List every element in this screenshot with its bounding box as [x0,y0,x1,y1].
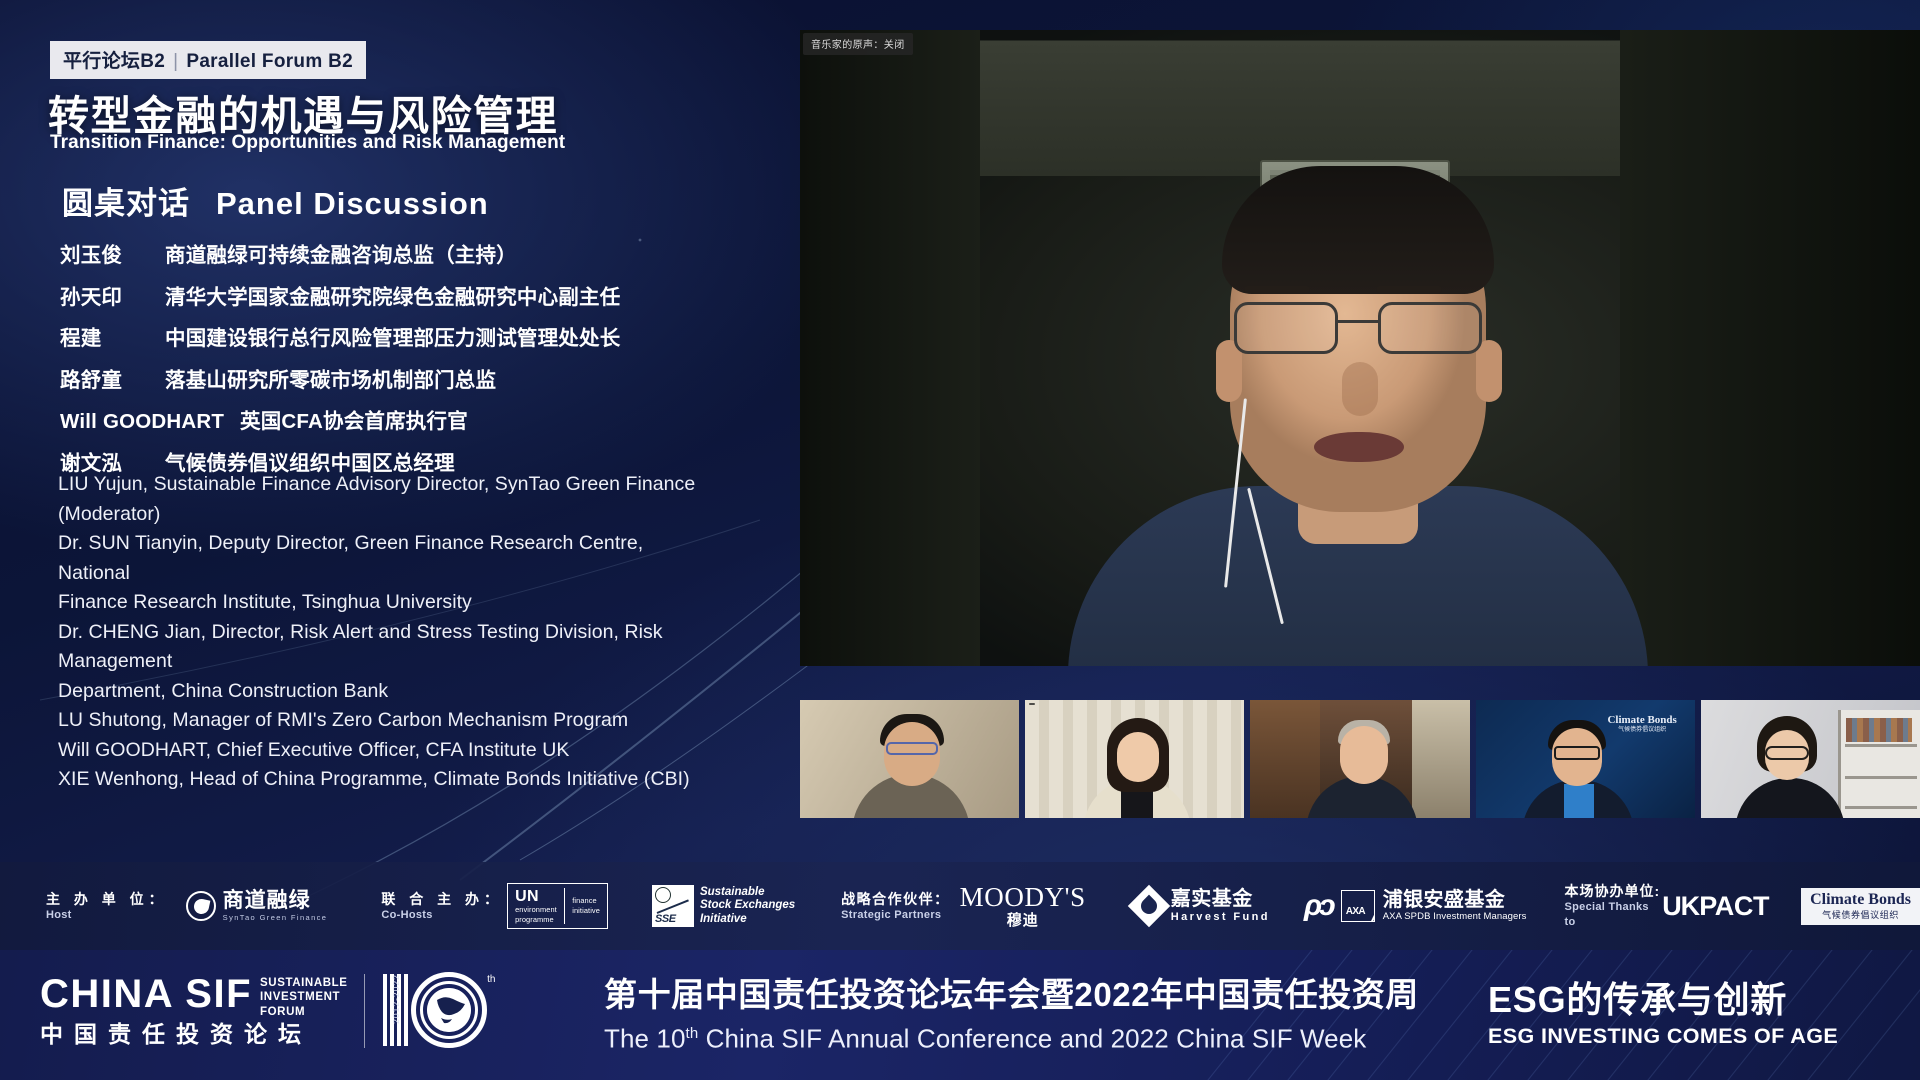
logo-sustainable-stock-exchanges: SSE Sustainable Stock Exchanges Initiati… [652,885,795,927]
speaker-line-en: (Moderator) [58,500,718,530]
speaker-line-en: Will GOODHART, Chief Executive Officer, … [58,736,718,766]
speaker-line-en: Finance Research Institute, Tsinghua Uni… [58,588,718,618]
brand-name-en: CHINA SIF [40,973,252,1015]
anniversary-superscript: th [487,974,495,985]
harvest-mark-icon [1128,885,1170,927]
axa-name-en: AXA SPDB Investment Managers [1383,911,1527,923]
speaker-row-cn: 路舒童 落基山研究所零碳市场机制部门总监 [60,363,620,393]
thanks-label-en: Special Thanks to [1565,900,1661,930]
thumb4-glasses-icon [1554,746,1600,760]
syntao-name-en: SynTao Green Finance [223,912,328,923]
logo-harvest-fund: 嘉实基金 Harvest Fund [1134,888,1270,924]
slide-content-panel: 平行论坛B2|Parallel Forum B2 转型金融的机遇与风险管理 Tr… [0,0,800,862]
logo-un-environment-programme: UN environment programme finance initiat… [507,883,608,929]
special-thanks-label: 本场协办单位: Special Thanks to [1565,882,1661,930]
sse-line-2: Stock Exchanges [700,899,795,913]
session-heading: 圆桌对话Panel Discussion [62,178,489,223]
conference-title-en-sup: th [686,1025,699,1042]
forum-tag-row: 平行论坛B2|Parallel Forum B2 [50,41,366,79]
syntao-name-cn: 商道融绿 [223,890,328,912]
speaker-list-cn: 刘玉俊 商道融绿可持续金融咨询总监（主持） 孙天印 清华大学国家金融研究院绿色金… [60,238,620,487]
logo-axa-spdb: ρɔ AXA 浦银安盛基金 AXA SPDB Investment Manage… [1304,889,1527,923]
session-heading-en: Panel Discussion [216,186,489,221]
thumb2-badge [1029,703,1035,705]
sse-line-1: Sustainable [700,886,795,900]
axa-name-cn: 浦银安盛基金 [1383,889,1527,911]
sse-line-3: Initiative [700,913,795,927]
brand-sub-1: SUSTAINABLE [260,976,348,991]
session-heading-cn: 圆桌对话 [62,186,190,221]
moodys-name-en: MOODY'S [960,883,1086,912]
speaker-row-cn: Will GOODHART 英国CFA协会首席执行官 [60,404,620,434]
unep-finance-1: finance [572,896,600,906]
cbi-name-cn: 气候债券倡议组织 [1810,909,1911,921]
speaker-line-en: XIE Wenhong, Head of China Programme, Cl… [58,765,718,795]
speaker-mouth [1314,432,1404,462]
sponsor-strip: 主 办 单 位： Host 商道融绿 SynTao Green Finance … [0,862,1920,950]
active-speaker-figure [1058,156,1658,666]
axa-mark-icon: AXA [1341,890,1375,922]
thumb4-climate-bonds-logo: Climate Bonds 气候债券倡议组织 [1607,714,1676,735]
brand-sub-3: FORUM [260,1005,348,1020]
logo-moodys: MOODY'S 穆迪 [960,883,1086,929]
theme-en: ESG INVESTING COMES OF AGE [1488,1022,1838,1050]
harvest-name-en: Harvest Fund [1171,910,1270,924]
forum-tag-cn: 平行论坛B2 [63,51,165,72]
strategic-partners-label: 战略合作伙伴： Strategic Partners [841,890,950,923]
sse-mark-icon: SSE [652,885,694,927]
thumb4-logo-en: Climate Bonds [1607,714,1676,726]
presentation-stage: 平行论坛B2|Parallel Forum B2 转型金融的机遇与风险管理 Tr… [0,0,1920,1080]
cohost-label: 联 合 主 办： Co-Hosts [381,890,503,923]
harvest-name-cn: 嘉实基金 [1171,888,1270,910]
speaker-line-en: Dr. SUN Tianyin, Deputy Director, Green … [58,529,718,588]
conference-title-en-pre: The 10 [604,1024,686,1054]
original-sound-badge: 音乐家的原声：关闭 [803,33,913,55]
participant-thumbnail-5[interactable] [1701,700,1920,818]
sse-globe-icon [655,887,671,903]
conference-theme: ESG的传承与创新 ESG INVESTING COMES OF AGE [1488,978,1838,1050]
axa-abbrev: AXA [1346,906,1365,917]
speaker-glasses-icon [1234,302,1482,354]
participant-thumbnail-2[interactable] [1025,700,1244,818]
logo-uk-pact: UKPACT [1662,891,1769,922]
speaker-line-en: LIU Yujun, Sustainable Finance Advisory … [58,470,718,500]
speaker-hair [1222,166,1494,294]
speaker-title-cn: 英国CFA协会首席执行官 [240,404,468,434]
thumb1-glasses-icon [886,742,938,755]
brand-divider [364,974,366,1048]
unep-divider [564,888,565,924]
strategic-label-en: Strategic Partners [841,908,950,923]
speaker-nose [1342,362,1378,416]
anniversary-globe-icon [427,988,471,1032]
speaker-row-cn: 刘玉俊 商道融绿可持续金融咨询总监（主持） [60,238,620,268]
speaker-name-cn: 刘玉俊 [60,238,165,268]
speaker-name-cn: 路舒童 [60,363,165,393]
video-wall-left [800,30,980,666]
thanks-label-cn: 本场协办单位: [1565,882,1661,900]
participant-thumbnail-1[interactable] [800,700,1019,818]
speaker-title-cn: 中国建设银行总行风险管理部压力测试管理处处长 [165,321,620,351]
spdb-mark-icon: ρɔ [1304,891,1333,921]
speaker-row-cn: 程建 中国建设银行总行风险管理部压力测试管理处处长 [60,321,620,351]
sse-abbrev: SSE [655,913,676,925]
video-wall-right [1620,30,1920,666]
speaker-line-en: Department, China Construction Bank [58,677,718,707]
conference-title-en-post: China SIF Annual Conference and 2022 Chi… [698,1024,1366,1054]
conference-title-cn: 第十届中国责任投资论坛年会暨2022年中国责任投资周 [604,974,1419,1016]
speaker-line-en: LU Shutong, Manager of RMI's Zero Carbon… [58,706,718,736]
thumb4-logo-cn: 气候债券倡议组织 [1607,726,1676,735]
brand-sub-2: INVESTMENT [260,990,348,1005]
host-label-cn: 主 办 单 位： [46,890,168,908]
participant-thumbnail-3[interactable] [1250,700,1469,818]
china-sif-brand: CHINA SIF SUSTAINABLE INVESTMENT FORUM 中… [40,968,489,1054]
speaker-name-cn: 孙天印 [60,280,165,310]
ukpact-uk: UK [1662,891,1699,922]
forum-tag-separator: | [165,51,186,72]
forum-tag: 平行论坛B2|Parallel Forum B2 [50,41,366,79]
unep-sub-1: environment [515,905,557,915]
unep-sub-2: programme [515,915,557,925]
moodys-name-cn: 穆迪 [960,912,1086,929]
unep-finance-2: initiative [572,906,600,916]
conference-title: 第十届中国责任投资论坛年会暨2022年中国责任投资周 The 10th Chin… [604,974,1419,1057]
thumb5-glasses-icon [1765,746,1809,760]
speaker-name-cn: Will GOODHART [60,410,240,434]
anniversary-years: 2012-2022 [391,974,401,1024]
speaker-brow-left [1244,286,1310,293]
speaker-name-cn: 程建 [60,321,165,351]
host-label: 主 办 单 位： Host [46,890,168,923]
theme-cn: ESG的传承与创新 [1488,978,1838,1022]
forum-tag-en: Parallel Forum B2 [186,51,353,72]
tenth-anniversary-mark: 2012-2022 th [381,968,489,1054]
speaker-brow-right [1376,286,1442,293]
syntao-mark-icon [186,891,216,921]
speaker-list-en: LIU Yujun, Sustainable Finance Advisory … [58,470,718,795]
logo-climate-bonds: Climate Bonds 气候债券倡议组织 [1801,888,1920,925]
speaker-title-cn: 清华大学国家金融研究院绿色金融研究中心副主任 [165,280,620,310]
unep-title: UN [515,888,557,905]
brand-name-cn: 中国责任投资论坛 [40,1019,348,1049]
strategic-label-cn: 战略合作伙伴： [841,890,950,908]
speaker-title-cn: 商道融绿可持续金融咨询总监（主持） [165,238,517,268]
conference-title-en: The 10th China SIF Annual Conference and… [604,1016,1419,1057]
cohost-label-en: Co-Hosts [381,908,503,923]
speaker-row-cn: 孙天印 清华大学国家金融研究院绿色金融研究中心副主任 [60,280,620,310]
speaker-line-en: Dr. CHENG Jian, Director, Risk Alert and… [58,618,718,677]
logo-syntao-green-finance: 商道融绿 SynTao Green Finance [186,890,328,923]
speaker-title-cn: 落基山研究所零碳市场机制部门总监 [165,363,496,393]
cohost-label-cn: 联 合 主 办： [381,890,503,908]
host-label-en: Host [46,908,168,923]
main-video-feed[interactable] [800,30,1920,666]
event-banner: CHINA SIF SUSTAINABLE INVESTMENT FORUM 中… [0,950,1920,1080]
participant-thumbnail-4[interactable]: Climate Bonds 气候债券倡议组织 [1476,700,1695,818]
participant-thumbnail-strip: Climate Bonds 气候债券倡议组织 [800,700,1920,820]
ukpact-pact: PACT [1699,891,1769,922]
slide-title-en: Transition Finance: Opportunities and Ri… [50,132,565,154]
cbi-name-en: Climate Bonds [1810,891,1911,909]
